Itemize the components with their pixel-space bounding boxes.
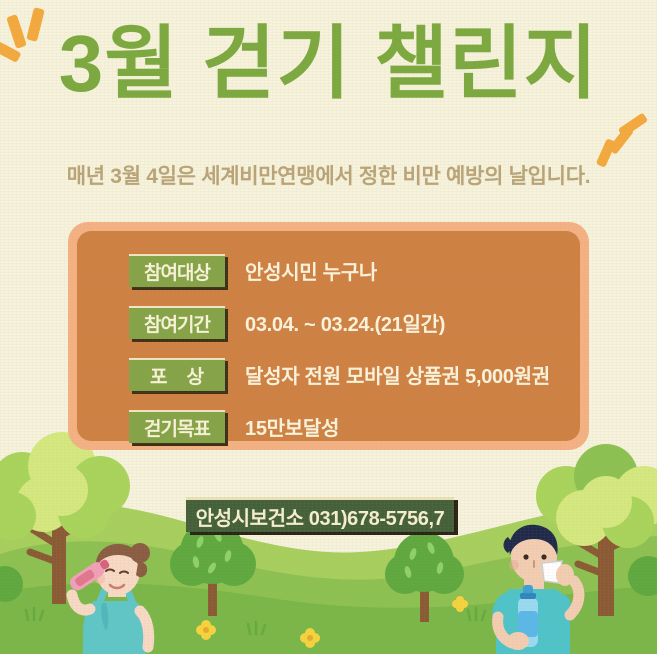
info-box: 참여대상 안성시민 누구나 참여기간 03.04. ~ 03.24.(21일간)… <box>68 222 589 450</box>
poster-root: 3월 걷기 챌린지 매년 3월 4일은 세계비만연맹에서 정한 비만 예방의 날… <box>0 0 657 654</box>
illustration-woman-drinking <box>50 539 190 654</box>
value-participants: 안성시민 누구나 <box>245 256 377 285</box>
contact-badge: 안성시보건소 031)678-5756,7 <box>186 497 454 532</box>
label-chip-reward: 포 상 <box>129 358 225 391</box>
page-subtitle: 매년 3월 4일은 세계비만연맹에서 정한 비만 예방의 날입니다. <box>0 160 657 190</box>
info-box-inner: 참여대상 안성시민 누구나 참여기간 03.04. ~ 03.24.(21일간)… <box>77 231 580 441</box>
label-chip-participants: 참여대상 <box>129 254 225 287</box>
info-row-participants: 참여대상 안성시민 누구나 <box>129 247 580 293</box>
label-chip-reward-char-2: 상 <box>187 362 204 389</box>
page-title: 3월 걷기 챌린지 <box>0 24 657 104</box>
illustration-man-drinking <box>470 519 620 654</box>
info-row-period: 참여기간 03.04. ~ 03.24.(21일간) <box>129 299 580 345</box>
label-chip-reward-char-1: 포 <box>150 362 167 389</box>
value-goal: 15만보달성 <box>245 412 339 441</box>
value-reward: 달성자 전원 모바일 상품권 5,000원권 <box>245 360 550 389</box>
info-row-goal: 걷기목표 15만보달성 <box>129 403 580 449</box>
info-row-reward: 포 상 달성자 전원 모바일 상품권 5,000원권 <box>129 351 580 397</box>
label-chip-goal: 걷기목표 <box>129 410 225 443</box>
label-chip-period: 참여기간 <box>129 306 225 339</box>
value-period: 03.04. ~ 03.24.(21일간) <box>245 308 445 337</box>
